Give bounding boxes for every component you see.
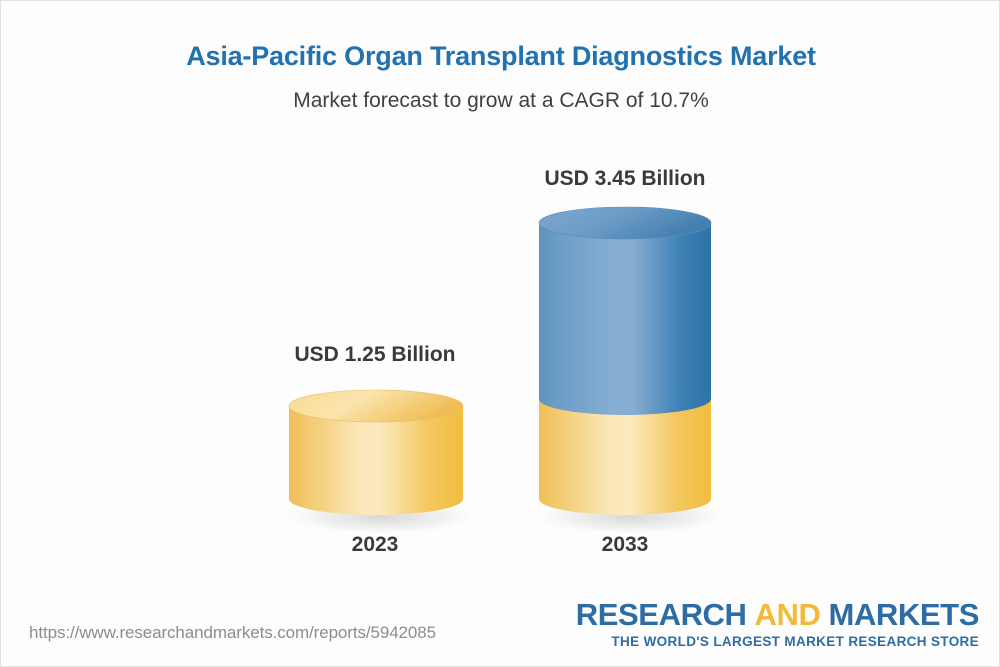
chart-canvas: Asia-Pacific Organ Transplant Diagnostic… — [0, 0, 1000, 667]
cylinder-bars-group — [1, 1, 1000, 667]
brand-logo: RESEARCHANDMARKETS THE WORLD'S LARGEST M… — [576, 599, 979, 649]
category-label-2033: 2033 — [525, 533, 725, 557]
cylinder-segment-growth-2033 — [539, 223, 711, 415]
brand-tagline: THE WORLD'S LARGEST MARKET RESEARCH STOR… — [576, 635, 979, 649]
category-label-2023: 2023 — [275, 533, 475, 557]
cylinder-top-2023 — [289, 390, 463, 422]
cylinder-body-2023 — [289, 406, 463, 515]
brand-word-markets: MARKETS — [829, 597, 979, 632]
cylinder-segment-base-2033 — [539, 399, 711, 515]
brand-wordmark: RESEARCHANDMARKETS — [576, 599, 979, 630]
cylinder-top-2033 — [539, 207, 711, 239]
source-url-link[interactable]: https://www.researchandmarkets.com/repor… — [29, 623, 436, 643]
brand-word-and: AND — [755, 597, 821, 632]
cylinder-bar-2033 — [537, 207, 725, 534]
brand-word-research: RESEARCH — [576, 597, 747, 632]
cylinder-bar-2023 — [288, 390, 476, 534]
